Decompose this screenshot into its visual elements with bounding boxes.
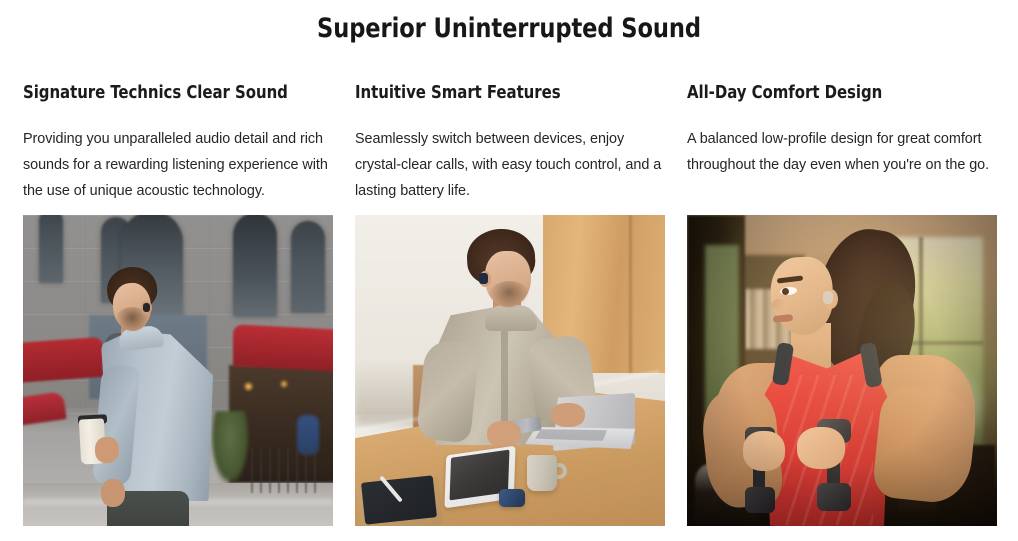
feature-heading-2: Intuitive Smart Features (355, 82, 650, 104)
mans-right-hand (551, 403, 585, 427)
feature-heading-1: Signature Technics Clear Sound (23, 82, 318, 104)
feature-body-3: A balanced low-profile design for great … (687, 126, 997, 178)
feature-image-1 (23, 215, 333, 526)
feature-image-2 (355, 215, 665, 526)
sidewalk-plant (211, 411, 249, 485)
wood-panel-seam (629, 215, 632, 373)
feature-column-3: All-Day Comfort Design A balanced low-pr… (687, 82, 997, 204)
feature-image-3 (687, 215, 997, 526)
mans-left-hand (487, 421, 521, 447)
red-awning-left (23, 337, 103, 383)
cafe-chairs (251, 447, 319, 493)
earbud-charging-case (499, 489, 525, 507)
feature-columns: Signature Technics Clear Sound Providing… (23, 82, 998, 204)
building-window (39, 215, 63, 283)
mans-beard (489, 281, 529, 309)
feature-section: Superior Uninterrupted Sound Signature T… (0, 0, 1018, 541)
red-awning-right (233, 324, 333, 372)
feature-images (23, 215, 998, 526)
feature-column-2: Intuitive Smart Features Seamlessly swit… (355, 82, 665, 204)
vignette-overlay (687, 215, 997, 526)
feature-body-2: Seamlessly switch between devices, enjoy… (355, 126, 665, 204)
shop-light (245, 383, 252, 390)
shop-light (281, 381, 287, 387)
mans-hand (95, 437, 119, 463)
building-window (291, 221, 325, 313)
building-window (233, 215, 277, 317)
feature-heading-3: All-Day Comfort Design (687, 82, 982, 104)
feature-column-1: Signature Technics Clear Sound Providing… (23, 82, 333, 204)
red-awning-far-left (23, 391, 67, 427)
mans-other-hand (101, 479, 125, 507)
earbud-icon (143, 303, 150, 312)
earbud-icon (479, 273, 488, 284)
page-title: Superior Uninterrupted Sound (36, 12, 983, 46)
shirt-placket (501, 319, 508, 427)
feature-body-1: Providing you unparalleled audio detail … (23, 126, 333, 204)
mans-left-arm (416, 338, 480, 443)
coffee-mug (527, 455, 557, 491)
